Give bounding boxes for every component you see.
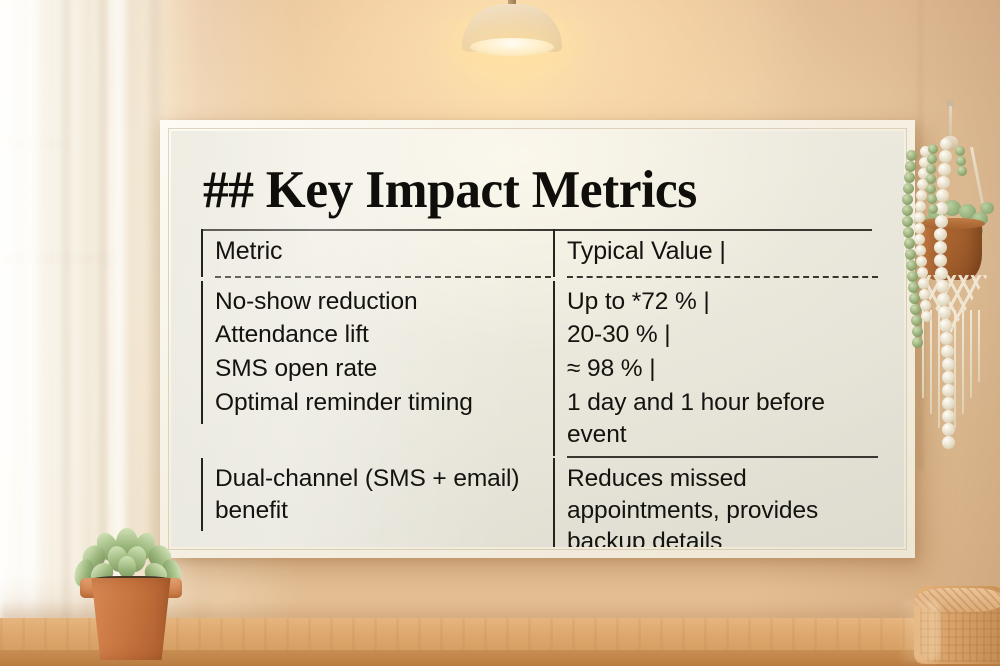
header-cell-value: Typical Value | [553, 233, 878, 285]
pouf-highlight [896, 600, 940, 662]
metric-value: 20-30 % | [567, 321, 671, 348]
column-divider-middle [553, 229, 555, 277]
header-dash-rule-right [567, 276, 878, 278]
curtain-highlight [20, 0, 42, 666]
table-row: Optimal reminder timing 1 day and 1 hour… [201, 386, 878, 462]
poster-canvas: ## Key Impact Metrics Metric [171, 131, 904, 547]
planter-cord [949, 106, 952, 140]
pot-rim [917, 218, 985, 229]
terracotta-pot [920, 222, 982, 280]
column-header-label: Typical Value | [567, 237, 726, 265]
header-dash-rule-left [215, 276, 551, 278]
metric-label: Optimal reminder timing [215, 389, 473, 416]
row-metric-cell: Optimal reminder timing [201, 386, 553, 462]
metric-value: Up to *72 % | [567, 288, 710, 315]
row-value-cell: 20-30 % | [553, 318, 878, 352]
header-cell-metric: Metric [201, 233, 553, 285]
metric-label: Attendance lift [215, 321, 369, 348]
succulent-plant [64, 520, 196, 660]
pendant-lamp [462, 0, 562, 60]
metric-value: 1 day and 1 hour before event [567, 389, 825, 448]
metric-value: Reduces missed appointments, provides ba… [567, 465, 818, 547]
table-row: Attendance lift 20-30 % | [201, 318, 878, 352]
row-metric-cell: SMS open rate [201, 352, 553, 386]
value-section-rule [567, 456, 878, 458]
row-value-cell: Reduces missed appointments, provides ba… [553, 462, 878, 547]
metric-label: No-show reduction [215, 288, 418, 315]
column-divider-left [201, 229, 203, 277]
picture-frame[interactable]: ## Key Impact Metrics Metric [160, 120, 915, 558]
hanging-planter [900, 100, 992, 530]
column-header-label: Metric [215, 237, 282, 265]
row-metric-cell: Dual-channel (SMS + email) benefit [201, 462, 553, 547]
metric-label: Dual-channel (SMS + email) benefit [215, 465, 519, 524]
metric-value: ≈ 98 % | [567, 355, 655, 382]
table-row: Dual-channel (SMS + email) benefit Reduc… [201, 462, 878, 547]
column-divider-middle [553, 382, 555, 456]
row-metric-cell: Attendance lift [201, 318, 553, 352]
room-scene: ## Key Impact Metrics Metric [0, 0, 1000, 666]
lamp-bulb-icon [470, 38, 554, 56]
title-rule [203, 229, 872, 231]
row-value-cell: ≈ 98 % | [553, 352, 878, 386]
row-metric-cell: No-show reduction [201, 285, 553, 319]
table-row: SMS open rate ≈ 98 % | [201, 352, 878, 386]
metric-label: SMS open rate [215, 355, 377, 382]
row-value-cell: Up to *72 % | [553, 285, 878, 319]
terracotta-pot [86, 578, 176, 660]
page-title: ## Key Impact Metrics [203, 163, 858, 217]
column-divider-left [201, 382, 203, 424]
table-row: No-show reduction Up to *72 % | [201, 285, 878, 319]
column-divider-left [201, 458, 203, 532]
column-divider-middle [553, 458, 555, 547]
row-value-cell: 1 day and 1 hour before event [553, 386, 878, 462]
table-header-row: Metric Typical Value | [201, 233, 878, 285]
metrics-table: Metric Typical Value | [201, 233, 878, 547]
